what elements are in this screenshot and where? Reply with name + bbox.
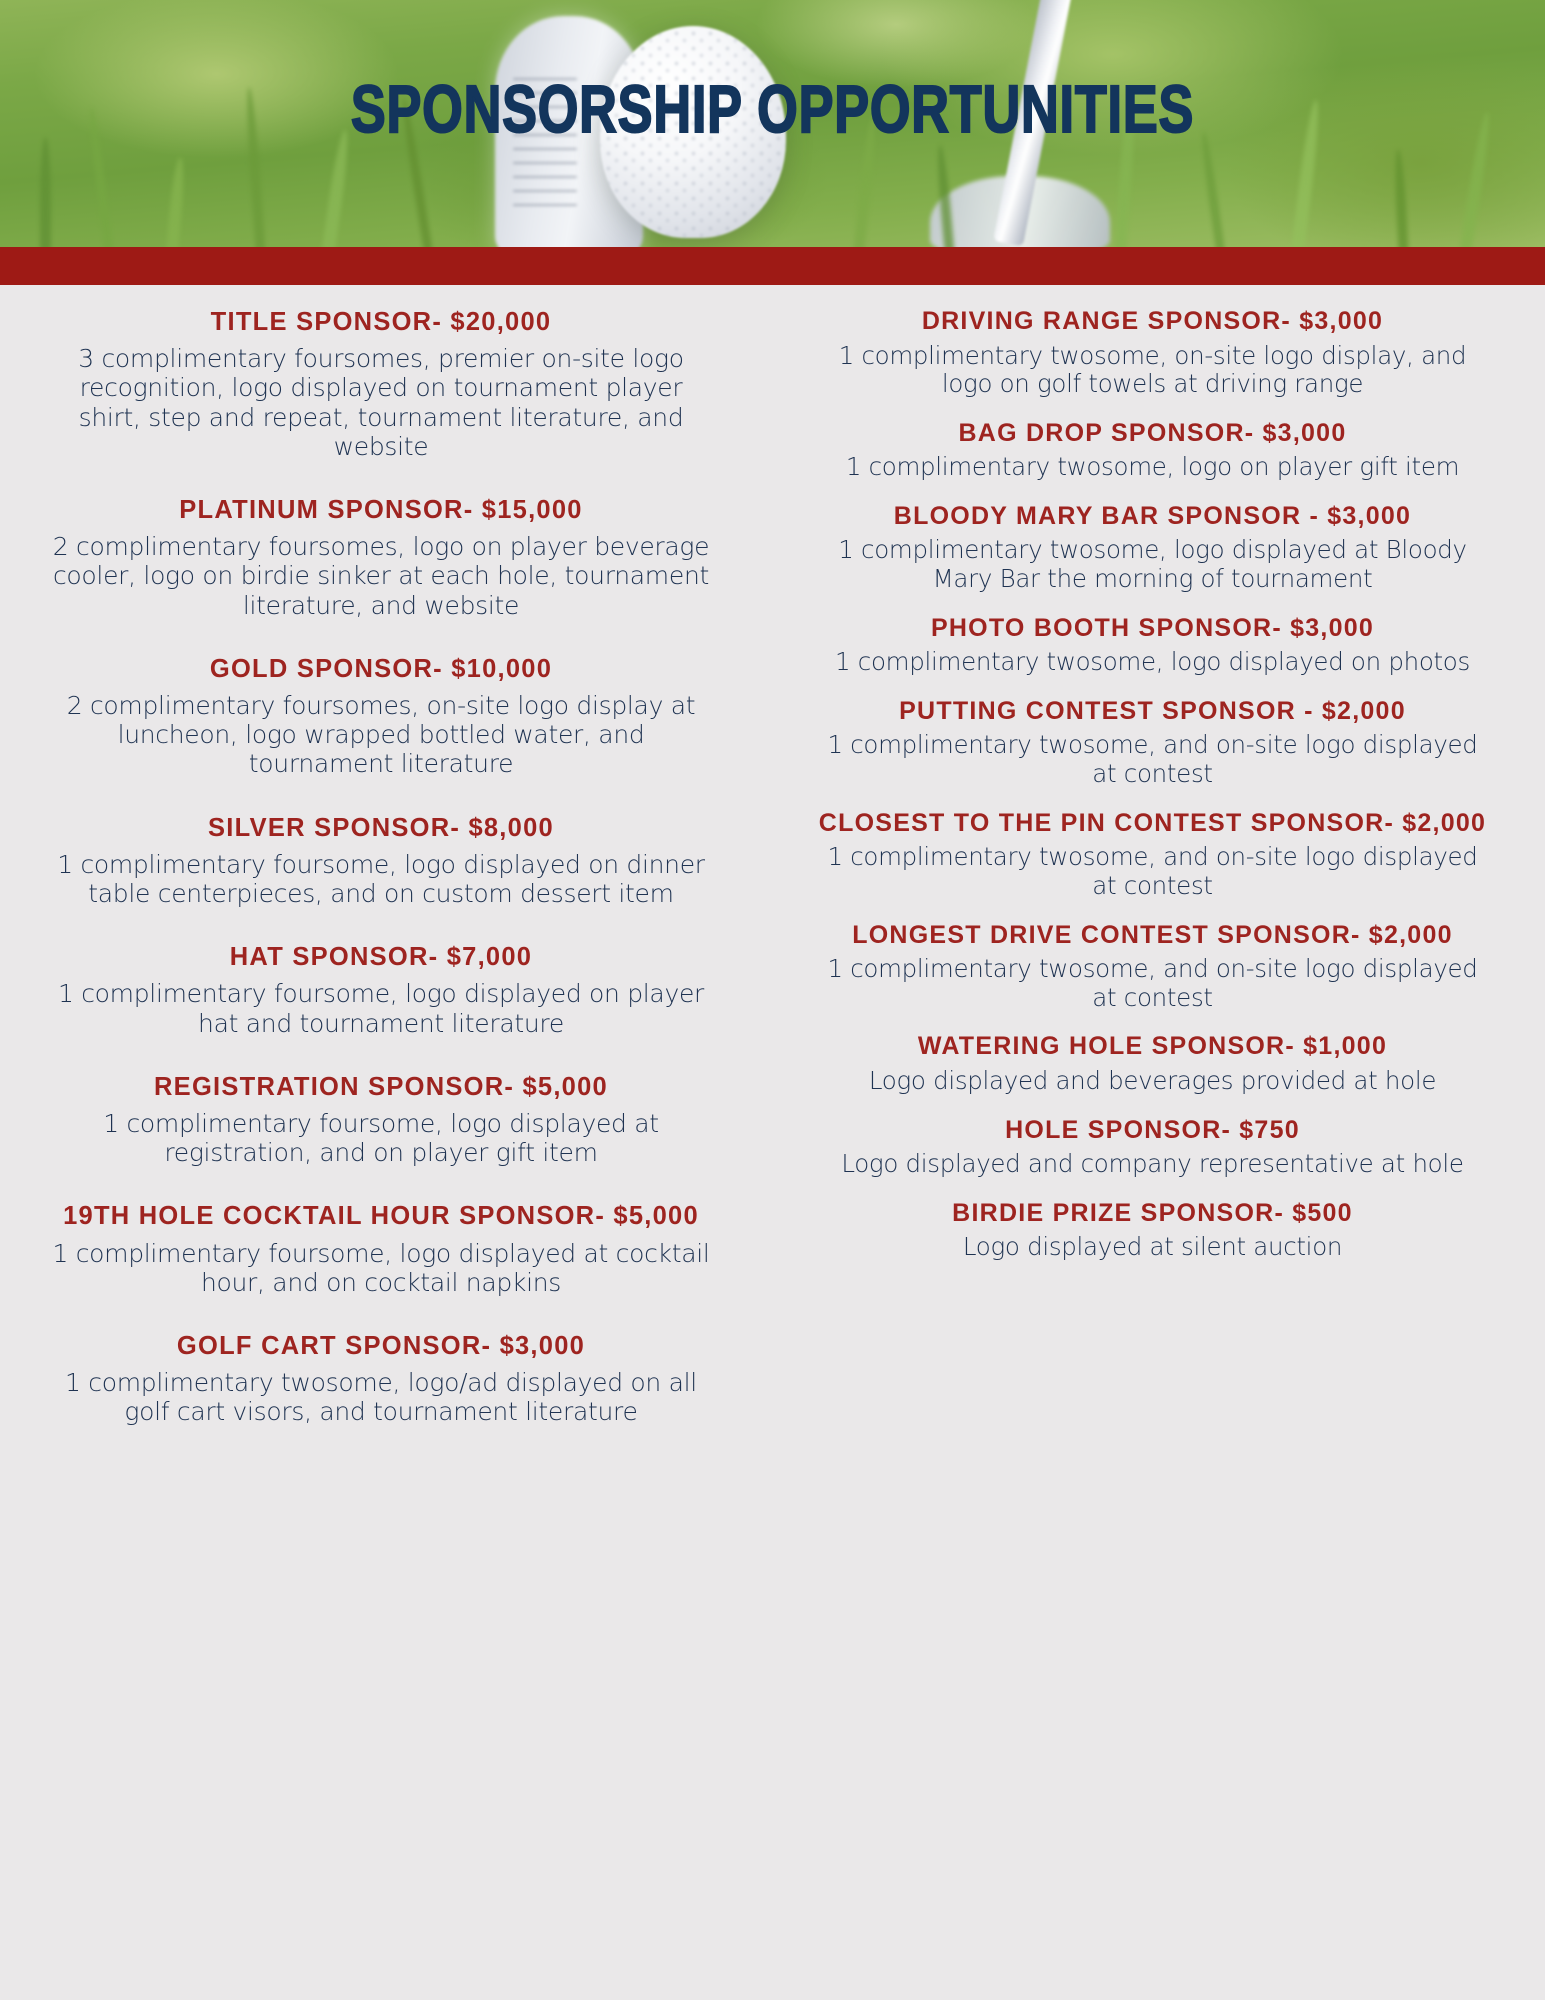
sponsor-tier: TITLE SPONSOR- $20,000 3 complimentary f… bbox=[50, 307, 712, 461]
sponsor-tier-description: 1 complimentary foursome, logo displayed… bbox=[50, 1109, 712, 1168]
sponsor-tier-title: 19TH HOLE COCKTAIL HOUR SPONSOR- $5,000 bbox=[50, 1201, 712, 1231]
sponsor-tier-description: 1 complimentary twosome, logo on player … bbox=[815, 453, 1490, 482]
sponsor-tier-description: 1 complimentary twosome, logo/ad display… bbox=[50, 1368, 712, 1427]
sponsor-tier: BAG DROP SPONSOR- $3,000 1 complimentary… bbox=[815, 419, 1490, 482]
sponsor-tier-description: Logo displayed at silent auction bbox=[815, 1233, 1490, 1262]
sponsor-tier-title: TITLE SPONSOR- $20,000 bbox=[50, 307, 712, 337]
sponsor-tier-title: REGISTRATION SPONSOR- $5,000 bbox=[50, 1072, 712, 1102]
sponsor-tier: PLATINUM SPONSOR- $15,000 2 complimentar… bbox=[50, 495, 712, 620]
sponsor-tier-description: 1 complimentary twosome, logo displayed … bbox=[815, 536, 1490, 593]
sponsor-tier-title: GOLD SPONSOR- $10,000 bbox=[50, 654, 712, 684]
sponsor-tier-description: Logo displayed and beverages provided at… bbox=[815, 1067, 1490, 1096]
sponsor-tier-description: Logo displayed and company representativ… bbox=[815, 1150, 1490, 1179]
sponsor-tier: WATERING HOLE SPONSOR- $1,000 Logo displ… bbox=[815, 1032, 1490, 1095]
sponsor-tier-description: 1 complimentary twosome, and on-site log… bbox=[815, 731, 1490, 788]
sponsor-tier-title: HAT SPONSOR- $7,000 bbox=[50, 942, 712, 972]
sponsor-tier-title: GOLF CART SPONSOR- $3,000 bbox=[50, 1331, 712, 1361]
sponsor-tier-description: 1 complimentary twosome, logo displayed … bbox=[815, 648, 1490, 677]
sponsor-tier: HOLE SPONSOR- $750 Logo displayed and co… bbox=[815, 1116, 1490, 1179]
left-column: TITLE SPONSOR- $20,000 3 complimentary f… bbox=[0, 307, 760, 1427]
page-title: SPONSORSHIP OPPORTUNITIES bbox=[170, 76, 1375, 143]
sponsor-tier: GOLF CART SPONSOR- $3,000 1 complimentar… bbox=[50, 1331, 712, 1427]
sponsor-tier-description: 2 complimentary foursomes, on-site logo … bbox=[50, 691, 712, 779]
sponsor-tier: LONGEST DRIVE CONTEST SPONSOR- $2,000 1 … bbox=[815, 921, 1490, 1013]
sponsor-tier: GOLD SPONSOR- $10,000 2 complimentary fo… bbox=[50, 654, 712, 779]
sponsor-tier-description: 3 complimentary foursomes, premier on-si… bbox=[50, 344, 712, 461]
sponsor-tier: PUTTING CONTEST SPONSOR - $2,000 1 compl… bbox=[815, 697, 1490, 789]
right-column: DRIVING RANGE SPONSOR- $3,000 1 complime… bbox=[760, 307, 1545, 1262]
sponsor-tier: 19TH HOLE COCKTAIL HOUR SPONSOR- $5,000 … bbox=[50, 1201, 712, 1297]
sponsor-tier-title: BAG DROP SPONSOR- $3,000 bbox=[815, 419, 1490, 449]
red-divider-band bbox=[0, 247, 1545, 285]
sponsor-tier-title: BLOODY MARY BAR SPONSOR - $3,000 bbox=[815, 502, 1490, 532]
sponsor-tier-title: SILVER SPONSOR- $8,000 bbox=[50, 813, 712, 843]
sponsor-tier-description: 1 complimentary twosome, and on-site log… bbox=[815, 843, 1490, 900]
sponsor-tier: DRIVING RANGE SPONSOR- $3,000 1 complime… bbox=[815, 307, 1490, 399]
sponsor-tier-title: LONGEST DRIVE CONTEST SPONSOR- $2,000 bbox=[815, 921, 1490, 951]
sponsor-tier-description: 1 complimentary foursome, logo displayed… bbox=[50, 1239, 712, 1298]
sponsor-tier: HAT SPONSOR- $7,000 1 complimentary four… bbox=[50, 942, 712, 1038]
sponsor-tier-title: PHOTO BOOTH SPONSOR- $3,000 bbox=[815, 614, 1490, 644]
sponsorship-tiers: TITLE SPONSOR- $20,000 3 complimentary f… bbox=[0, 285, 1545, 1427]
sponsor-tier-title: PLATINUM SPONSOR- $15,000 bbox=[50, 495, 712, 525]
sponsor-tier-title: DRIVING RANGE SPONSOR- $3,000 bbox=[815, 307, 1490, 337]
hero-banner: SPONSORSHIP OPPORTUNITIES bbox=[0, 0, 1545, 247]
sponsor-tier-title: CLOSEST TO THE PIN CONTEST SPONSOR- $2,0… bbox=[815, 809, 1490, 839]
sponsor-tier: PHOTO BOOTH SPONSOR- $3,000 1 compliment… bbox=[815, 614, 1490, 677]
sponsor-tier: CLOSEST TO THE PIN CONTEST SPONSOR- $2,0… bbox=[815, 809, 1490, 901]
sponsor-tier-title: WATERING HOLE SPONSOR- $1,000 bbox=[815, 1032, 1490, 1062]
sponsor-tier-title: BIRDIE PRIZE SPONSOR- $500 bbox=[815, 1199, 1490, 1229]
sponsor-tier-description: 1 complimentary foursome, logo displayed… bbox=[50, 979, 712, 1038]
sponsor-tier-description: 1 complimentary twosome, and on-site log… bbox=[815, 955, 1490, 1012]
sponsor-tier-title: PUTTING CONTEST SPONSOR - $2,000 bbox=[815, 697, 1490, 727]
sponsor-tier-description: 2 complimentary foursomes, logo on playe… bbox=[50, 532, 712, 620]
sponsor-tier-description: 1 complimentary foursome, logo displayed… bbox=[50, 850, 712, 909]
sponsor-tier-title: HOLE SPONSOR- $750 bbox=[815, 1116, 1490, 1146]
sponsor-tier-description: 1 complimentary twosome, on-site logo di… bbox=[815, 342, 1490, 399]
sponsor-tier: BIRDIE PRIZE SPONSOR- $500 Logo displaye… bbox=[815, 1199, 1490, 1262]
sponsor-tier: REGISTRATION SPONSOR- $5,000 1 complimen… bbox=[50, 1072, 712, 1168]
sponsor-tier: BLOODY MARY BAR SPONSOR - $3,000 1 compl… bbox=[815, 502, 1490, 594]
sponsor-tier: SILVER SPONSOR- $8,000 1 complimentary f… bbox=[50, 813, 712, 909]
